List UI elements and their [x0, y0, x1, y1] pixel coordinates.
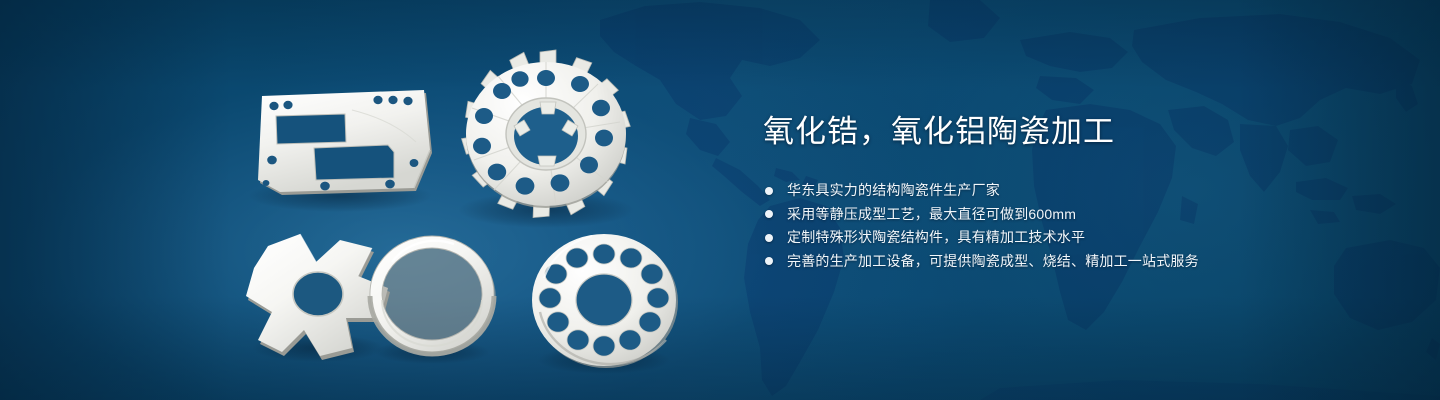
banner-feature-list: 华东具实力的结构陶瓷件生产厂家 采用等静压成型工艺，最大直径可做到600mm 定…	[765, 179, 1363, 273]
bullet-dot-icon	[765, 234, 773, 242]
list-item: 华东具实力的结构陶瓷件生产厂家	[765, 179, 1363, 203]
bullet-dot-icon	[765, 187, 773, 195]
list-item-label: 采用等静压成型工艺，最大直径可做到600mm	[787, 206, 1076, 222]
bullet-dot-icon	[765, 210, 773, 218]
ceramic-products-image	[0, 0, 740, 400]
list-item-label: 华东具实力的结构陶瓷件生产厂家	[787, 182, 1000, 198]
bullet-dot-icon	[765, 257, 773, 265]
list-item: 定制特殊形状陶瓷结构件，具有精加工技术水平	[765, 226, 1363, 250]
ceramic-thin-ring	[370, 236, 496, 364]
ceramic-impeller-vaned-disc	[458, 50, 634, 228]
list-item: 采用等静压成型工艺，最大直径可做到600mm	[765, 203, 1363, 227]
list-item-label: 完善的生产加工设备，可提供陶瓷成型、烧结、精加工一站式服务	[787, 253, 1199, 269]
banner-headline: 氧化锆，氧化铝陶瓷加工	[763, 112, 1363, 152]
hero-banner: 氧化锆，氧化铝陶瓷加工 华东具实力的结构陶瓷件生产厂家 采用等静压成型工艺，最大…	[0, 0, 1440, 400]
ceramic-plate-with-cutouts	[248, 90, 432, 212]
list-item: 完善的生产加工设备，可提供陶瓷成型、烧结、精加工一站式服务	[765, 250, 1363, 274]
list-item-label: 定制特殊形状陶瓷结构件，具有精加工技术水平	[787, 229, 1085, 245]
banner-text-block: 氧化锆，氧化铝陶瓷加工 华东具实力的结构陶瓷件生产厂家 采用等静压成型工艺，最大…	[763, 112, 1363, 273]
ceramic-perforated-annular-disc	[532, 234, 678, 374]
